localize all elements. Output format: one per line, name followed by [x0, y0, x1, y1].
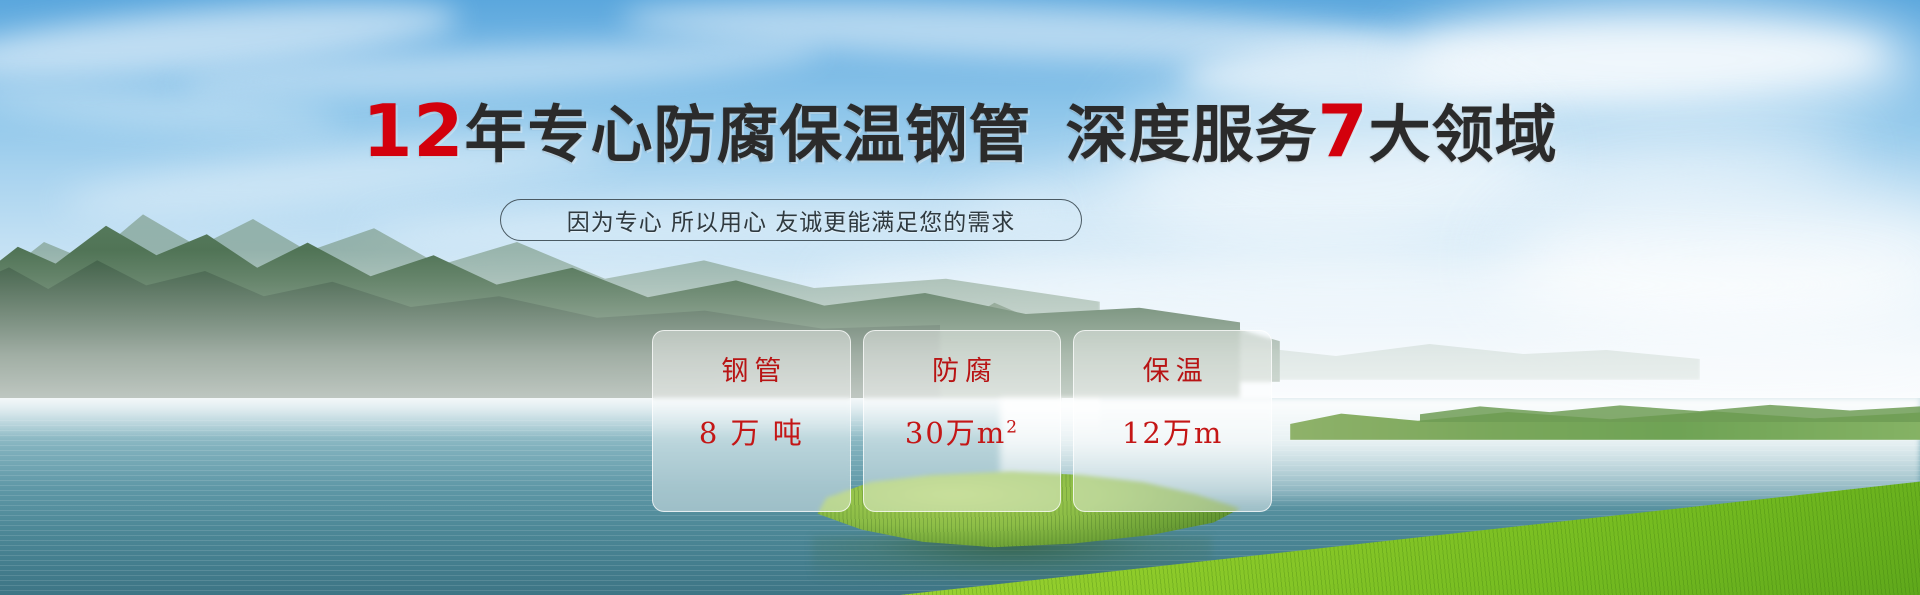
stat-card: 保温 12万m [1073, 330, 1272, 512]
stat-card-title: 钢管 [715, 349, 787, 388]
stat-card-value-text: 12万m [1122, 416, 1223, 450]
stat-card-group: 钢管 8 万 吨 防腐 30万m2 保温 12万m [652, 330, 1272, 512]
stat-card-value: 8 万 吨 [699, 410, 804, 452]
headline-number-fields: 7 [1318, 89, 1369, 173]
stat-card-value: 30万m2 [905, 410, 1019, 452]
stat-card-value-text: 30万m [905, 416, 1006, 450]
headline-number-years: 12 [362, 89, 464, 173]
banner-subtitle-text: 因为专心 所以用心 友诚更能满足您的需求 [567, 203, 1016, 237]
stat-card-title: 防腐 [926, 349, 998, 388]
stat-card-value-superscript: 2 [1006, 417, 1019, 437]
banner-headline: 12年专心防腐保温钢管深度服务7大领域 [0, 84, 1920, 174]
stat-card: 钢管 8 万 吨 [652, 330, 851, 512]
stat-card: 防腐 30万m2 [863, 330, 1062, 512]
headline-segment-3: 大领域 [1369, 98, 1558, 171]
headline-segment-2: 深度服务 [1066, 98, 1318, 171]
hero-banner: 12年专心防腐保温钢管深度服务7大领域 因为专心 所以用心 友诚更能满足您的需求… [0, 0, 1920, 595]
stat-card-value-text: 8 万 吨 [699, 416, 804, 450]
stat-card-title: 保温 [1137, 349, 1209, 388]
headline-segment-1: 年专心防腐保温钢管 [465, 98, 1032, 171]
stat-card-value: 12万m [1122, 410, 1223, 452]
banner-subtitle-pill: 因为专心 所以用心 友诚更能满足您的需求 [500, 199, 1082, 241]
